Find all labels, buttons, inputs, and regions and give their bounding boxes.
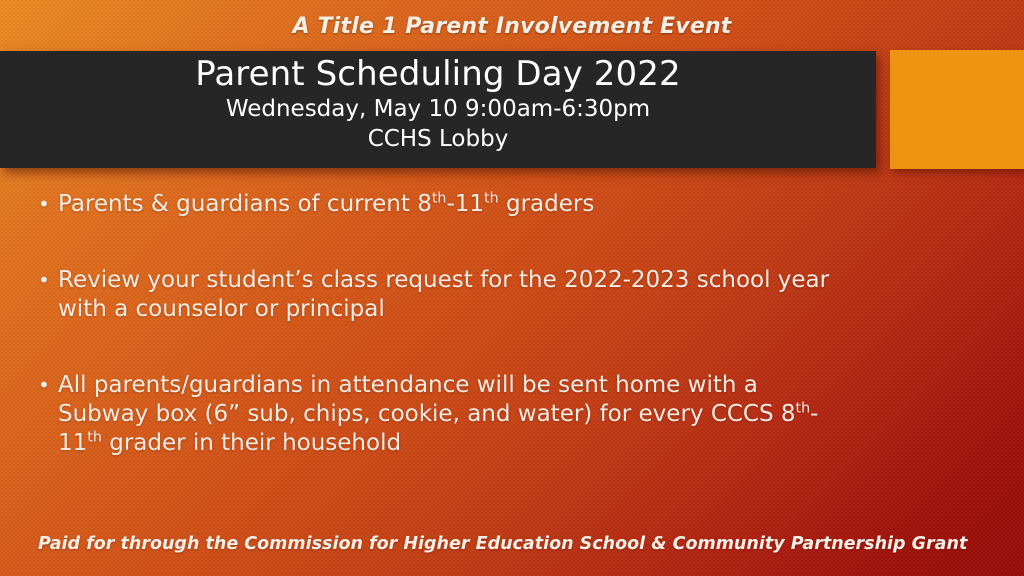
list-item: •Parents & guardians of current 8th-11th…	[38, 190, 838, 219]
title-band: Parent Scheduling Day 2022 Wednesday, Ma…	[0, 51, 876, 168]
list-item: •Review your student’s class request for…	[38, 266, 838, 324]
list-item: •All parents/guardians in attendance wil…	[38, 371, 838, 458]
slide-subtitle-location: CCHS Lobby	[368, 124, 509, 154]
orange-accent-block	[890, 50, 1024, 169]
presentation-slide: A Title 1 Parent Involvement Event Paren…	[0, 0, 1024, 576]
list-item-text: All parents/guardians in attendance will…	[58, 371, 838, 458]
slide-title: Parent Scheduling Day 2022	[195, 54, 680, 94]
slide-kicker: A Title 1 Parent Involvement Event	[0, 14, 1024, 39]
list-item-text: Parents & guardians of current 8th-11th …	[58, 190, 838, 219]
bullet-dot-icon: •	[38, 371, 58, 458]
bullet-dot-icon: •	[38, 266, 58, 324]
bullet-list: •Parents & guardians of current 8th-11th…	[38, 190, 838, 458]
slide-footer: Paid for through the Commission for High…	[38, 534, 967, 554]
slide-subtitle-datetime: Wednesday, May 10 9:00am-6:30pm	[226, 94, 650, 124]
list-item-text: Review your student’s class request for …	[58, 266, 838, 324]
bullet-dot-icon: •	[38, 190, 58, 219]
